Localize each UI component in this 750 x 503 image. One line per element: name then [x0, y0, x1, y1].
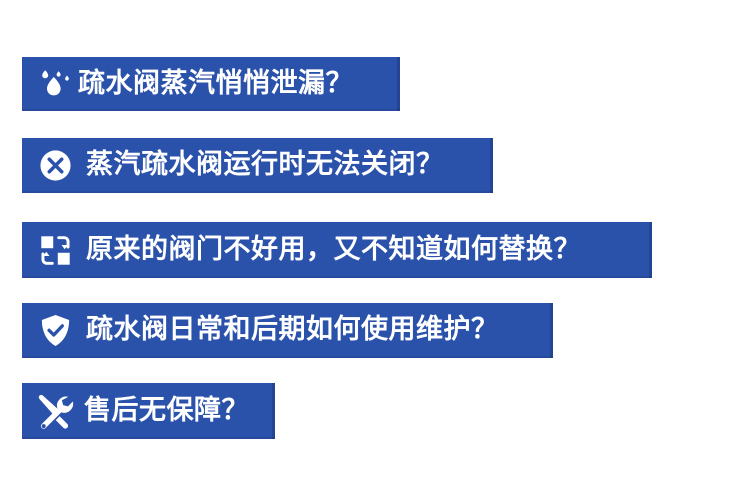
pain-point-label: 原来的阀门不好用，又不知道如何替换？: [86, 236, 581, 265]
pain-point-banner-after-sales[interactable]: 售后无保障？: [22, 383, 275, 439]
water-drops-icon: [34, 63, 76, 105]
pain-point-label: 蒸汽疏水阀运行时无法关闭？: [86, 151, 444, 180]
pain-point-banner-list: 疏水阀蒸汽悄悄泄漏？ 蒸汽疏水阀运行时无法关闭？ 原来的阀门不好用，又不知道如何…: [0, 0, 750, 503]
circle-x-icon: [34, 145, 76, 187]
pain-point-banner-maintenance[interactable]: 疏水阀日常和后期如何使用维护？: [22, 303, 553, 358]
swap-exchange-icon: [34, 229, 76, 271]
tools-wrench-screwdriver-icon: [34, 390, 76, 432]
pain-point-banner-steam-trap-leak[interactable]: 疏水阀蒸汽悄悄泄漏？: [22, 57, 400, 111]
pain-point-label: 售后无保障？: [84, 397, 249, 426]
pain-point-label: 疏水阀蒸汽悄悄泄漏？: [78, 70, 353, 99]
pain-point-banner-cannot-close[interactable]: 蒸汽疏水阀运行时无法关闭？: [22, 138, 493, 193]
pain-point-label: 疏水阀日常和后期如何使用维护？: [86, 316, 499, 345]
pain-point-banner-valve-replacement[interactable]: 原来的阀门不好用，又不知道如何替换？: [22, 222, 652, 278]
shield-check-icon: [34, 310, 76, 352]
